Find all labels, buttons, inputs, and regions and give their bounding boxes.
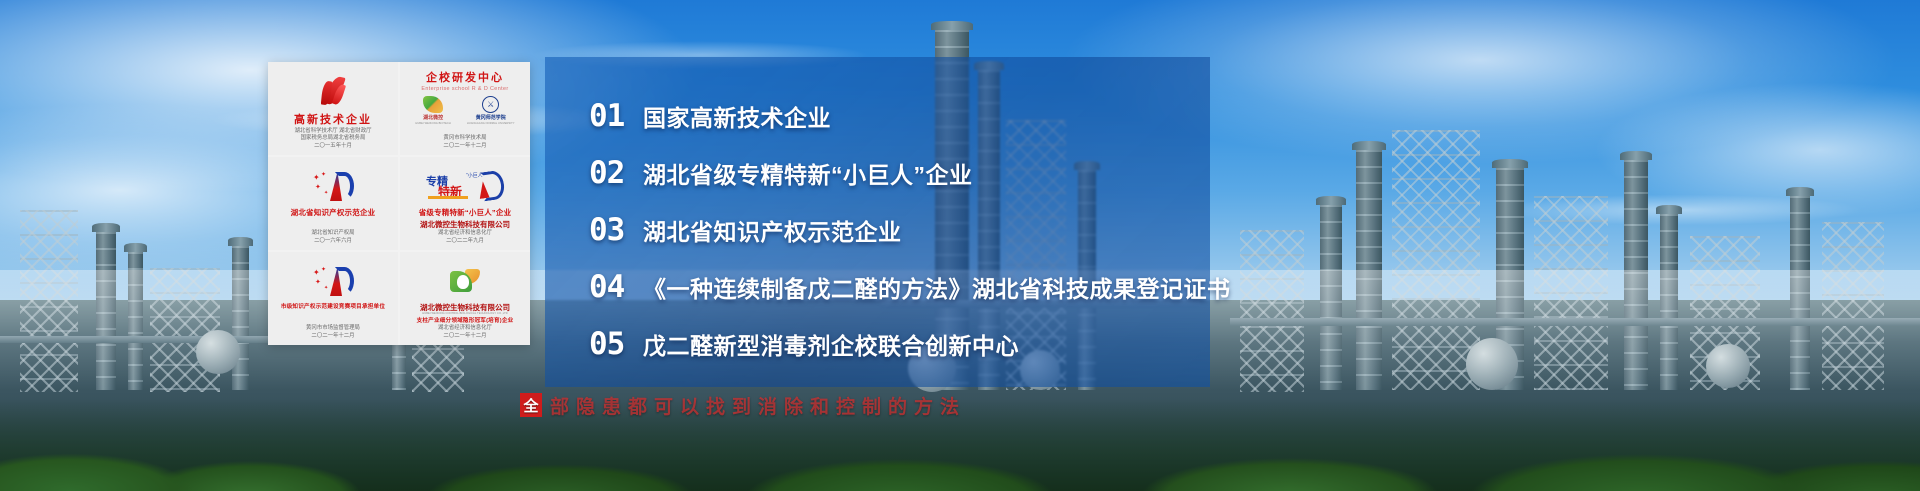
- certificate-pillar-industry-hidden-champion[interactable]: 湖北微控生物科技有限公司 HUBEI WEIKONG CONTROL BIOLO…: [400, 252, 530, 345]
- flame-logo-icon: [320, 71, 346, 111]
- certificate-title: 市级知识产权示范建设竞赛项目承担单位: [281, 304, 385, 310]
- company-name-cn: 湖北微控生物科技有限公司: [420, 303, 510, 312]
- issuer-line-1: 湖北省经济和信息化厅: [438, 325, 492, 332]
- honor-item-02: 02 湖北省级专精特新“小巨人”企业: [545, 144, 1210, 201]
- honor-label: 《一种连续制备戊二醛的方法》湖北省科技成果登记证书: [643, 270, 1231, 304]
- certificate-title: 湖北省知识产权示范企业: [291, 209, 376, 218]
- honor-number: 01: [589, 98, 643, 134]
- honors-panel: 01 国家高新技术企业 02 湖北省级专精特新“小巨人”企业 03 湖北省知识产…: [545, 57, 1210, 387]
- company-name-en: HUBEI WEIKONG CONTROL BIOLOGICAL TECHNOL…: [422, 312, 507, 315]
- honor-label: 国家高新技术企业: [643, 99, 831, 133]
- certificate-provincial-little-giant[interactable]: 专精 特新 “小巨人” 省级专精特新“小巨人”企业 湖北微控生物科技有限公司 湖…: [400, 157, 530, 250]
- certificate-issuer: 黄冈市科学技术局 二〇二一年十二月: [443, 135, 486, 151]
- certificate-subtitle: 湖北微控生物科技有限公司: [420, 220, 510, 229]
- partner-name-en: HUANGGANG NORMAL UNIVERSITY: [467, 122, 515, 125]
- honor-label: 湖北省知识产权示范企业: [643, 213, 902, 247]
- certificate-title: 企校研发中心: [426, 69, 504, 85]
- slogan-strip: 全 部隐患都可以找到消除和控制的方法: [520, 392, 1080, 418]
- ip-sail-logo-icon: ✦✦ ✦✦: [312, 166, 354, 206]
- honor-item-05: 05 戊二醛新型消毒剂企校联合创新中心: [545, 315, 1210, 372]
- certificate-municipal-ip-demo-project-unit[interactable]: ✦✦ ✦✦ 市级知识产权示范建设竞赛项目承担单位 黄冈市市场监督管理局 二〇二一…: [268, 252, 398, 345]
- certificate-date: 二〇二二年九月: [438, 238, 492, 245]
- honor-item-03: 03 湖北省知识产权示范企业: [545, 201, 1210, 258]
- honor-number: 03: [589, 212, 643, 248]
- weikong-company-logo-icon: [450, 261, 480, 301]
- leaf-icon: [423, 96, 443, 113]
- issuer-line-2: 国家税务总局湖北省税务局: [295, 135, 372, 142]
- certificate-issuer: 湖北省经济和信息化厅 二〇二二年九月: [438, 230, 492, 246]
- issuer-line-1: 湖北省经济和信息化厅: [438, 230, 492, 237]
- issuer-line-1: 黄冈市市场监督管理局: [306, 325, 360, 332]
- certificate-date: 二〇二一年十二月: [438, 333, 492, 340]
- seal-icon: ⚔: [482, 96, 499, 113]
- partner-logos: 湖北微控 HUBEI WEIKONG BIOTECH ⚔ 黄冈师范学院 HUAN…: [415, 96, 514, 125]
- certificate-issuer: 湖北省科学技术厅 湖北省财政厅 国家税务总局湖北省税务局 二〇一五年十月: [295, 128, 372, 151]
- honor-number: 02: [589, 155, 643, 191]
- partner-name-cn: 黄冈师范学院: [476, 114, 506, 121]
- partner-name-cn: 湖北微控: [423, 114, 443, 121]
- certificate-title: 省级专精特新“小巨人”企业: [419, 209, 512, 218]
- certificate-date: 二〇二一年十二月: [306, 333, 360, 340]
- honor-item-04: 04 《一种连续制备戊二醛的方法》湖北省科技成果登记证书: [545, 258, 1210, 315]
- honor-label: 湖北省级专精特新“小巨人”企业: [643, 156, 973, 190]
- certificate-school-enterprise-rd-center[interactable]: 企校研发中心 Enterprise school R & D Center 湖北…: [400, 62, 530, 155]
- issuer-line-1: 湖北省知识产权局: [311, 230, 354, 237]
- certificate-hubei-ip-demo-enterprise[interactable]: ✦✦ ✦✦ 湖北省知识产权示范企业 湖北省知识产权局 二〇一六年六月: [268, 157, 398, 250]
- slogan-badge: 全: [520, 393, 542, 417]
- honor-label: 戊二醛新型消毒剂企校联合创新中心: [643, 327, 1019, 361]
- honors-banner: 全 部隐患都可以找到消除和控制的方法 01 国家高新技术企业 02 湖北省级专精…: [0, 0, 1920, 491]
- honor-number: 04: [589, 269, 643, 305]
- zhuanjingtexin-logo-icon: 专精 特新 “小巨人”: [426, 166, 504, 206]
- ip-sail-logo-icon: ✦✦ ✦✦: [312, 261, 354, 301]
- certificate-date: 二〇一六年六月: [311, 238, 354, 245]
- university-seal-logo: ⚔ 黄冈师范学院 HUANGGANG NORMAL UNIVERSITY: [467, 96, 515, 125]
- certificate-issuer: 湖北省知识产权局 二〇一六年六月: [311, 230, 354, 246]
- certificate-title: 支柱产业细分领域隐形冠军(培育)企业: [417, 318, 514, 324]
- certificate-title: 高新技术企业: [294, 114, 372, 127]
- partner-name-en: HUBEI WEIKONG BIOTECH: [415, 122, 451, 125]
- honor-number: 05: [589, 326, 643, 362]
- honor-item-01: 01 国家高新技术企业: [545, 87, 1210, 144]
- slogan-text: 部隐患都可以找到消除和控制的方法: [542, 392, 1080, 419]
- honors-list: 01 国家高新技术企业 02 湖北省级专精特新“小巨人”企业 03 湖北省知识产…: [545, 57, 1210, 387]
- issuer-line-1: 黄冈市科学技术局: [443, 135, 486, 142]
- certificate-issuer: 黄冈市市场监督管理局 二〇二一年十二月: [306, 325, 360, 341]
- certificate-high-tech-enterprise[interactable]: 高新技术企业 湖北省科学技术厅 湖北省财政厅 国家税务总局湖北省税务局 二〇一五…: [268, 62, 398, 155]
- certificate-issuer: 湖北省经济和信息化厅 二〇二一年十二月: [438, 325, 492, 341]
- certificate-date: 二〇二一年十二月: [443, 143, 486, 150]
- weikong-leaf-logo: 湖北微控 HUBEI WEIKONG BIOTECH: [415, 96, 451, 125]
- certificate-grid: 高新技术企业 湖北省科学技术厅 湖北省财政厅 国家税务总局湖北省税务局 二〇一五…: [268, 62, 530, 345]
- certificate-date: 二〇一五年十月: [295, 143, 372, 150]
- certificate-title-en: Enterprise school R & D Center: [421, 86, 508, 92]
